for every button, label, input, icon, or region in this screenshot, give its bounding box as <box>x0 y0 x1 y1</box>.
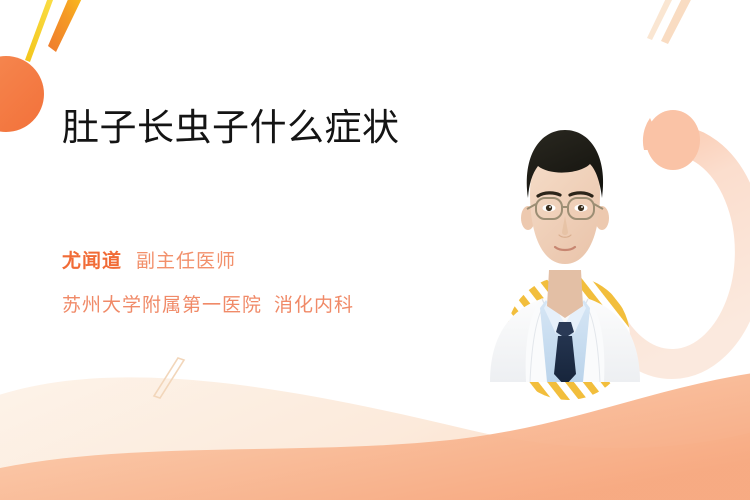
orange-circle-left <box>0 56 44 132</box>
doctor-portrait <box>470 112 660 382</box>
diagonal-stripe-faint-top-right <box>647 0 694 44</box>
diagonal-stripe-yellow-top-left <box>25 0 56 62</box>
doctor-affiliation-row: 苏州大学附属第一医院消化内科 <box>62 290 482 317</box>
doctor-hospital: 苏州大学附属第一医院 <box>62 295 262 316</box>
wave-cream-bottom <box>0 377 750 500</box>
page-title: 肚子长虫子什么症状 <box>62 108 442 149</box>
wave-salmon-bottom-right <box>0 372 750 500</box>
video-cover-card: 肚子长虫子什么症状 尤闻道副主任医师 苏州大学附属第一医院消化内科 <box>0 0 750 500</box>
diagonal-stripe-outline-bottom-left <box>154 358 184 398</box>
doctor-tie <box>554 322 576 382</box>
title-block: 肚子长虫子什么症状 <box>62 108 442 149</box>
diagonal-stripe-orange-top-left <box>48 0 86 52</box>
doctor-name-row: 尤闻道副主任医师 <box>62 246 482 273</box>
doctor-department: 消化内科 <box>274 295 354 316</box>
doctor-rank: 副主任医师 <box>136 251 236 272</box>
doctor-name: 尤闻道 <box>62 251 122 272</box>
